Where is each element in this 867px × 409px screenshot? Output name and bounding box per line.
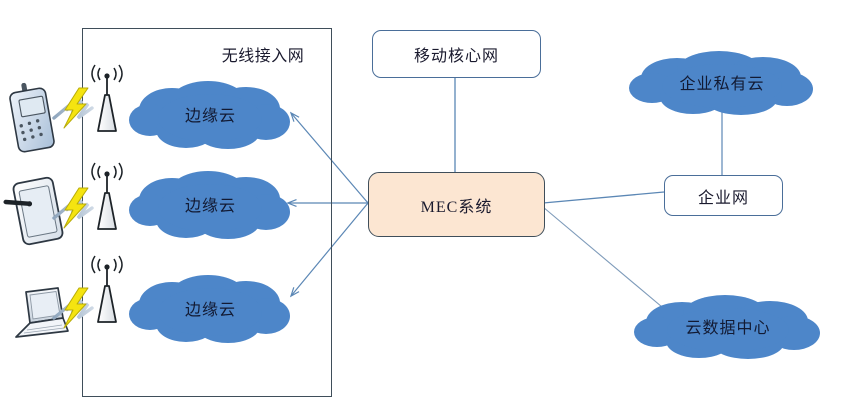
base-station-antenna-icon — [92, 65, 122, 131]
device-icon-layer — [0, 0, 867, 409]
mobile-phone-icon — [9, 83, 55, 153]
lightning-bolt-icon — [54, 88, 92, 128]
diagram-canvas: 无线接入网 边缘云 — [0, 0, 867, 409]
tablet-stylus-icon — [6, 177, 64, 245]
wireless-access-network-label: 无线接入网 — [198, 42, 328, 66]
base-station-antenna-icon — [92, 256, 122, 322]
base-station-antenna-icon — [92, 163, 122, 229]
